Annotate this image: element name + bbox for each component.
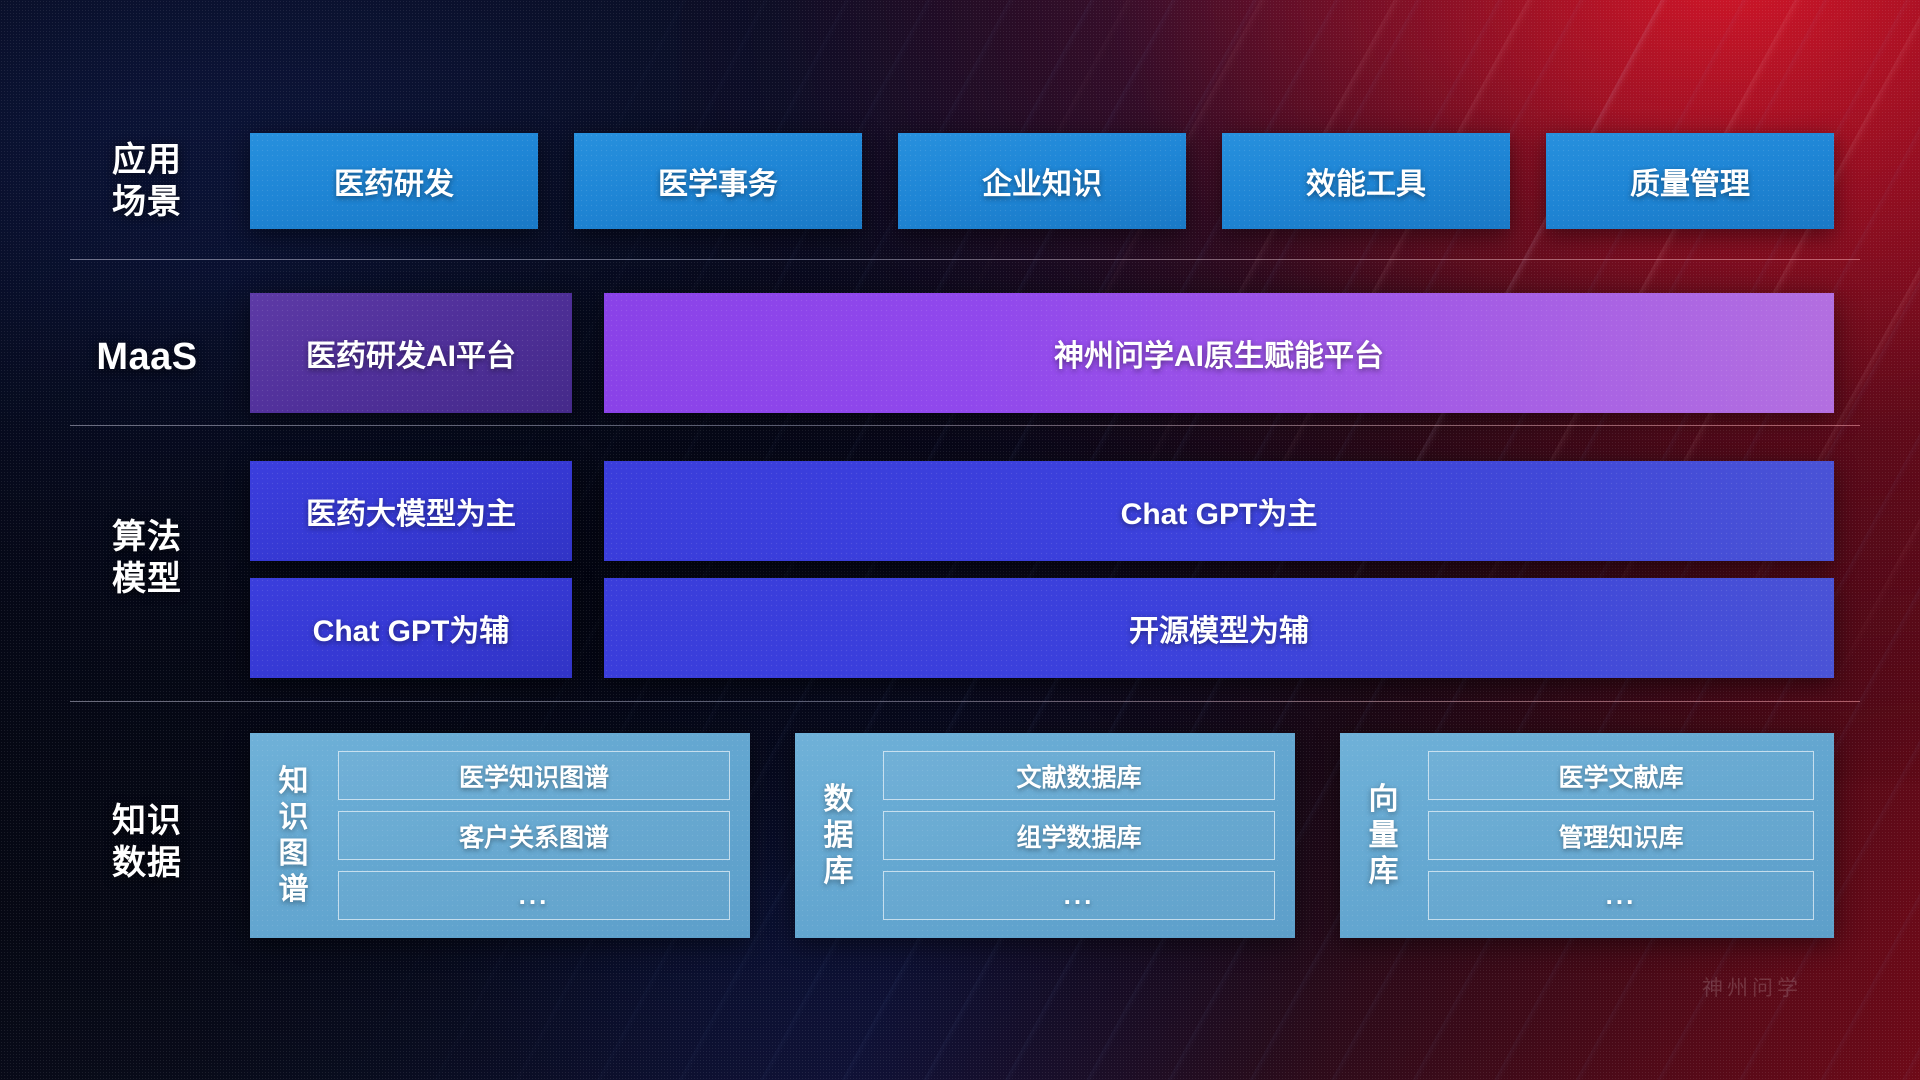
knowledge-panel-vector-store[interactable]: 向量库 医学文献库 管理知识库 ... [1340,733,1834,938]
app-card-label: 医学事务 [658,159,778,203]
divider-application-maas [70,259,1860,260]
algo-card-label: 开源模型为辅 [1129,606,1309,650]
app-card-label: 质量管理 [1630,159,1750,203]
knowledge-item[interactable]: 医学知识图谱 [338,751,730,800]
knowledge-item-more[interactable]: ... [1428,871,1814,920]
knowledge-panel-item-list: 医学知识图谱 客户关系图谱 ... [326,745,738,926]
knowledge-item-more[interactable]: ... [883,871,1275,920]
watermark-text: 神州问学 [1702,972,1802,1002]
knowledge-item[interactable]: 医学文献库 [1428,751,1814,800]
algo-card-label: Chat GPT为主 [1121,489,1318,533]
layer-label-knowledge: 知识 数据 [62,800,232,884]
layer-label-algorithm: 算法 模型 [62,516,232,600]
layer-label-application: 应用 场景 [62,139,232,223]
app-card-efficiency-tools[interactable]: 效能工具 [1222,133,1510,229]
app-card-medicine-rnd[interactable]: 医药研发 [250,133,538,229]
knowledge-item[interactable]: 管理知识库 [1428,811,1814,860]
app-card-label: 企业知识 [982,159,1102,203]
algo-card-opensource-secondary[interactable]: 开源模型为辅 [604,578,1834,678]
algo-card-label: Chat GPT为辅 [313,606,510,650]
algo-card-chatgpt-secondary[interactable]: Chat GPT为辅 [250,578,572,678]
knowledge-panel-knowledge-graph[interactable]: 知识图谱 医学知识图谱 客户关系图谱 ... [250,733,750,938]
app-card-quality-management[interactable]: 质量管理 [1546,133,1834,229]
knowledge-panel-item-list: 医学文献库 管理知识库 ... [1416,745,1822,926]
maas-card-shenzhou-wenxue-platform[interactable]: 神州问学AI原生赋能平台 [604,293,1834,413]
knowledge-item[interactable]: 文献数据库 [883,751,1275,800]
architecture-diagram: 应用 场景 医药研发 医学事务 企业知识 效能工具 质量管理 MaaS 医药研发… [0,0,1920,1080]
knowledge-item[interactable]: 客户关系图谱 [338,811,730,860]
knowledge-panel-item-list: 文献数据库 组学数据库 ... [871,745,1283,926]
knowledge-panel-database[interactable]: 数据库 文献数据库 组学数据库 ... [795,733,1295,938]
maas-card-label: 医药研发AI平台 [306,331,516,375]
knowledge-item-more[interactable]: ... [338,871,730,920]
algo-card-medicine-llm-primary[interactable]: 医药大模型为主 [250,461,572,561]
knowledge-panel-title: 向量库 [1352,745,1416,926]
divider-maas-algorithm [70,425,1860,426]
app-card-label: 医药研发 [334,159,454,203]
layer-label-maas: MaaS [62,336,232,378]
knowledge-panel-title: 知识图谱 [262,745,326,926]
divider-algorithm-knowledge [70,701,1860,702]
app-card-label: 效能工具 [1306,159,1426,203]
maas-card-label: 神州问学AI原生赋能平台 [1054,331,1384,375]
maas-card-medicine-ai-platform[interactable]: 医药研发AI平台 [250,293,572,413]
knowledge-panel-title: 数据库 [807,745,871,926]
slide-canvas: 应用 场景 医药研发 医学事务 企业知识 效能工具 质量管理 MaaS 医药研发… [0,0,1920,1080]
algo-card-label: 医药大模型为主 [306,489,516,533]
knowledge-item[interactable]: 组学数据库 [883,811,1275,860]
app-card-medical-affairs[interactable]: 医学事务 [574,133,862,229]
algo-card-chatgpt-primary[interactable]: Chat GPT为主 [604,461,1834,561]
app-card-enterprise-knowledge[interactable]: 企业知识 [898,133,1186,229]
